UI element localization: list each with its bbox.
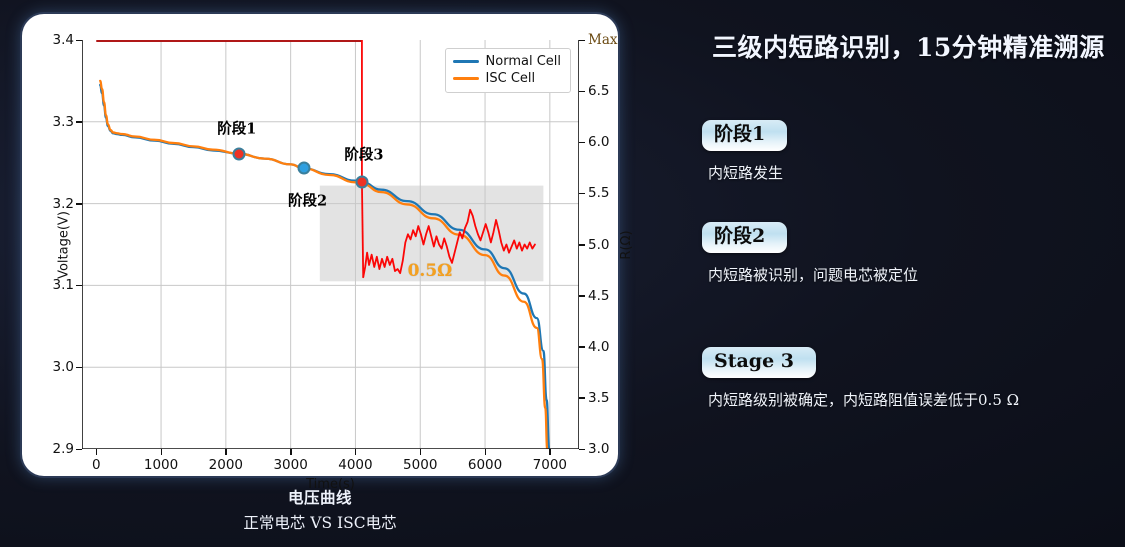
y-axis-tick-left: 3.3 xyxy=(53,114,74,130)
stage-desc-3: 内短路级别被确定，内短路阻值误差低于0.5 Ω xyxy=(708,389,1122,410)
x-axis-tick: 5000 xyxy=(403,457,437,473)
y-tick-mark-right xyxy=(579,193,585,195)
stage-block-2: 阶段2 内短路被识别，问题电芯被定位 xyxy=(702,222,1122,285)
stage-block-3: Stage 3 内短路级别被确定，内短路阻值误差低于0.5 Ω xyxy=(702,347,1122,410)
legend-entry-isc-cell: ISC Cell xyxy=(453,71,561,86)
y-tick-mark-right xyxy=(579,244,585,246)
stage-marker-label-3: 阶段3 xyxy=(344,144,383,165)
plot-area: Normal Cell ISC Cell Voltage(V) R(Ω) Tim… xyxy=(82,40,579,449)
y-tick-mark-right xyxy=(579,449,585,451)
stage-marker-3[interactable] xyxy=(355,176,368,189)
y-tick-mark-right xyxy=(579,40,585,42)
stage-marker-1[interactable] xyxy=(232,147,245,160)
x-axis-tick: 0 xyxy=(92,457,101,473)
y-tick-mark-right xyxy=(579,397,585,399)
y-axis-title-left: Voltage(V) xyxy=(56,211,71,279)
y-tick-mark-right xyxy=(579,91,585,93)
chart-legend: Normal Cell ISC Cell xyxy=(445,48,571,93)
stage-badge-3: Stage 3 xyxy=(702,347,816,378)
y-axis-tick-right: 6.5 xyxy=(588,83,609,99)
stage-marker-label-2: 阶段2 xyxy=(288,190,327,211)
x-axis-tick: 3000 xyxy=(273,457,307,473)
stage-badge-1: 阶段1 xyxy=(702,120,787,151)
x-axis-tick: 1000 xyxy=(144,457,178,473)
y-axis-tick-right: 6.0 xyxy=(588,134,609,150)
y-axis-tick-left: 3.1 xyxy=(53,277,74,293)
y-tick-mark-right xyxy=(579,295,585,297)
x-tick-mark xyxy=(290,449,292,455)
y-axis-tick-right: 4.5 xyxy=(588,288,609,304)
stage-marker-2[interactable] xyxy=(297,162,310,175)
y-axis-tick-right: 5.5 xyxy=(588,185,609,201)
y-axis-tick-left: 3.4 xyxy=(53,32,74,48)
stage-desc-2: 内短路被识别，问题电芯被定位 xyxy=(708,264,1122,285)
stage-block-1: 阶段1 内短路发生 xyxy=(702,120,1122,183)
legend-label-normal-cell: Normal Cell xyxy=(486,54,561,69)
voltage-chart-card: Normal Cell ISC Cell Voltage(V) R(Ω) Tim… xyxy=(22,14,618,476)
x-tick-mark xyxy=(549,449,551,455)
x-axis-tick: 7000 xyxy=(533,457,567,473)
x-tick-mark xyxy=(485,449,487,455)
plot-frame xyxy=(82,40,579,449)
caption-line-1: 电压曲线 xyxy=(22,486,618,508)
y-tick-mark-left xyxy=(76,40,82,42)
stage-badge-2: 阶段2 xyxy=(702,222,787,253)
legend-swatch-normal-cell xyxy=(453,60,479,63)
y-axis-tick-right: 5.0 xyxy=(588,237,609,253)
x-tick-mark xyxy=(355,449,357,455)
x-axis-tick: 2000 xyxy=(209,457,243,473)
y-axis-tick-left: 2.9 xyxy=(53,441,74,457)
y-tick-mark-right xyxy=(579,142,585,144)
y-tick-mark-left xyxy=(76,367,82,369)
stage-marker-label-1: 阶段1 xyxy=(217,117,256,138)
y-tick-mark-left xyxy=(76,121,82,123)
right-info-panel: 三级内短路识别，15分钟精准溯源 阶段1 内短路发生 阶段2 内短路被识别，问题… xyxy=(690,0,1125,547)
x-axis-tick: 4000 xyxy=(338,457,372,473)
y-axis-tick-left: 3.2 xyxy=(53,196,74,212)
legend-entry-normal-cell: Normal Cell xyxy=(453,54,561,69)
legend-label-isc-cell: ISC Cell xyxy=(486,71,536,86)
x-tick-mark xyxy=(161,449,163,455)
x-tick-mark xyxy=(225,449,227,455)
y-axis-tick-right: 4.0 xyxy=(588,339,609,355)
y-tick-mark-left xyxy=(76,203,82,205)
y-axis-max-label: Max xyxy=(588,32,618,48)
y-axis-tick-right: 3.5 xyxy=(588,390,609,406)
legend-swatch-isc-cell xyxy=(453,77,479,80)
y-tick-mark-right xyxy=(579,346,585,348)
y-tick-mark-left xyxy=(76,449,82,451)
x-tick-mark xyxy=(96,449,98,455)
page-title: 三级内短路识别，15分钟精准溯源 xyxy=(712,28,1105,64)
y-axis-tick-right: 3.0 xyxy=(588,441,609,457)
x-tick-mark xyxy=(420,449,422,455)
x-axis-tick: 6000 xyxy=(468,457,502,473)
caption-line-2: 正常电芯 VS ISC电芯 xyxy=(22,511,618,533)
y-axis-tick-left: 3.0 xyxy=(53,359,74,375)
y-axis-title-right: R(Ω) xyxy=(619,230,634,259)
stage-desc-1: 内短路发生 xyxy=(708,162,1122,183)
chart-caption: 电压曲线 正常电芯 VS ISC电芯 xyxy=(22,486,618,533)
y-tick-mark-left xyxy=(76,285,82,287)
resistance-value-label: 0.5Ω xyxy=(408,261,453,281)
